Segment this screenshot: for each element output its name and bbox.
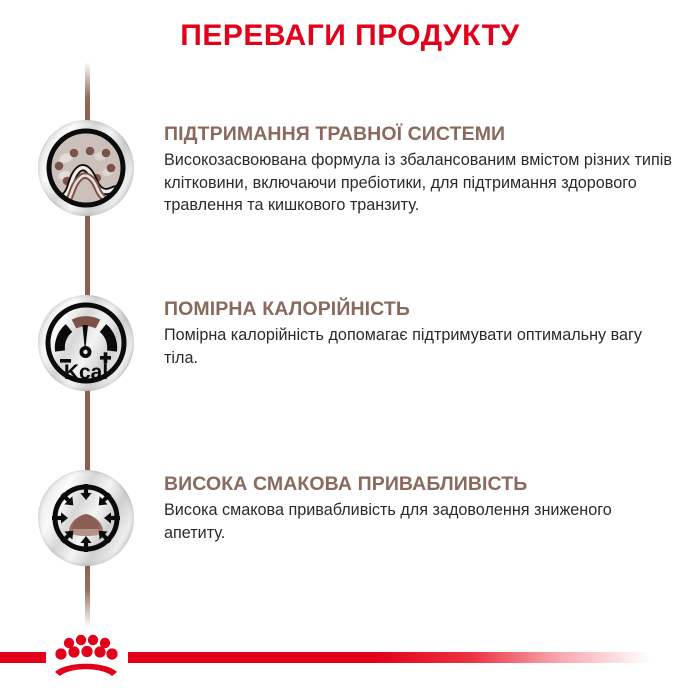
benefit-item-digestive: ПІДТРИМАННЯ ТРАВНОЇ СИСТЕМИ Високозасвою…: [0, 120, 700, 220]
benefit-icon-wrapper: [38, 470, 138, 570]
connector-line-bottom: [85, 565, 90, 627]
benefit-body: Висока смакова привабливість для задовол…: [164, 499, 672, 544]
footer: [0, 622, 700, 700]
benefit-heading: ПІДТРИМАННЯ ТРАВНОЇ СИСТЕМИ: [164, 122, 672, 146]
benefit-text-block: ВИСОКА СМАКОВА ПРИВАБЛИВІСТЬ Висока смак…: [164, 472, 672, 544]
footer-bar-right: [128, 652, 650, 663]
royal-canin-crown-logo: [48, 634, 124, 680]
benefit-heading: ВИСОКА СМАКОВА ПРИВАБЛИВІСТЬ: [164, 472, 672, 496]
kcal-gauge-icon: Kcal: [38, 295, 134, 391]
digestive-system-icon: [38, 120, 134, 216]
benefit-text-block: ПІДТРИМАННЯ ТРАВНОЇ СИСТЕМИ Високозасвою…: [164, 122, 672, 217]
benefit-text-block: ПОМІРНА КАЛОРІЙНІСТЬ Помірна калорійніст…: [164, 297, 672, 369]
product-benefits-page: ПЕРЕВАГИ ПРОДУКТУ: [0, 0, 700, 700]
benefit-heading: ПОМІРНА КАЛОРІЙНІСТЬ: [164, 297, 672, 321]
palatability-bowl-icon: [38, 470, 134, 566]
benefit-icon-wrapper: Kcal: [38, 295, 138, 395]
connector-line-top: [85, 62, 90, 128]
benefit-body: Високозасвоювана формула із збалансовани…: [164, 149, 672, 217]
svg-text:Kcal: Kcal: [64, 361, 108, 384]
connector-line-middle-1: [85, 212, 90, 304]
connector-line-middle-2: [85, 388, 90, 478]
benefit-icon-wrapper: [38, 120, 138, 220]
benefit-item-palatability: ВИСОКА СМАКОВА ПРИВАБЛИВІСТЬ Висока смак…: [0, 470, 700, 570]
page-title: ПЕРЕВАГИ ПРОДУКТУ: [0, 18, 700, 54]
footer-bar-left: [0, 652, 46, 663]
benefit-body: Помірна калорійність допомагає підтримув…: [164, 324, 672, 369]
benefit-item-calories: Kcal ПОМІРНА КАЛОРІЙНІСТЬ Помірна калорі…: [0, 295, 700, 395]
